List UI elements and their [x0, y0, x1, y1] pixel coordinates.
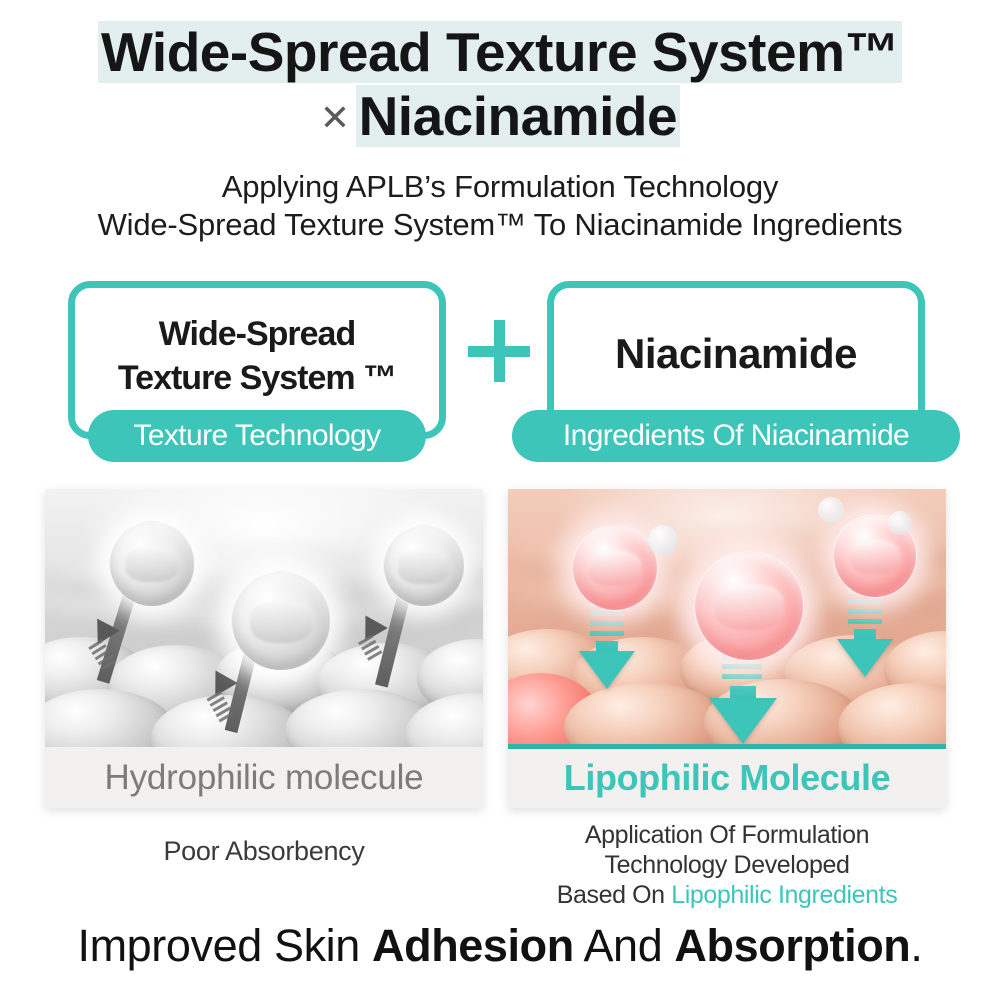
- cards-row: Wide-Spread Texture System ™ Niacinamide…: [0, 281, 1000, 471]
- molecule-sphere: [572, 525, 658, 611]
- note-line-3: Based On Lipophilic Ingredients: [508, 880, 946, 910]
- footer-part-5: .: [910, 920, 922, 971]
- caption-lipophilic: Lipophilic Molecule: [508, 744, 946, 808]
- card-texture-system-title: Wide-Spread Texture System ™: [75, 312, 439, 400]
- footer-part-1: Improved Skin: [77, 920, 372, 971]
- card-texture-system-title-line-2: Texture System ™: [75, 356, 439, 400]
- badge-ingredients-of-niacinamide: Ingredients Of Niacinamide: [512, 410, 960, 462]
- arrow-head-down: [709, 698, 777, 744]
- subtitle: Applying APLB’s Formulation Technology W…: [0, 168, 1000, 244]
- molecule-sphere: [231, 571, 331, 671]
- molecule-core: [714, 584, 783, 629]
- molecule-sphere: [383, 525, 465, 607]
- molecule-core: [849, 540, 901, 574]
- panel-lipophilic-image: [508, 489, 946, 744]
- footer-part-absorption: Absorption: [674, 920, 910, 971]
- molecule-sphere: [109, 521, 195, 607]
- footer-part-adhesion: Adhesion: [372, 920, 574, 971]
- panel-lipophilic: Lipophilic Molecule: [508, 489, 946, 808]
- page-title-line-1-text: Wide-Spread Texture System™: [98, 21, 902, 83]
- molecule-core: [588, 551, 642, 586]
- arrow-head-down: [837, 639, 893, 677]
- molecule-sphere: [694, 551, 804, 661]
- note-line-3-highlight: Lipophilic Ingredients: [671, 881, 897, 909]
- plus-icon: [468, 320, 530, 382]
- bubble-small: [818, 497, 844, 523]
- panel-hydrophilic-image: [45, 489, 483, 747]
- note-poor-absorbency: Poor Absorbency: [45, 836, 483, 867]
- arrow-head-down: [579, 651, 635, 689]
- molecule-core: [398, 550, 449, 584]
- note-formulation-technology: Application Of Formulation Technology De…: [508, 820, 946, 910]
- badge-texture-technology: Texture Technology: [88, 410, 426, 462]
- footer-tagline: Improved Skin Adhesion And Absorption.: [0, 918, 1000, 974]
- panel-hydrophilic: Hydrophilic molecule: [45, 489, 483, 808]
- molecule-core: [125, 547, 179, 582]
- note-line-2: Technology Developed: [508, 850, 946, 880]
- note-line-3-prefix: Based On: [557, 881, 672, 909]
- infographic-page: Wide-Spread Texture System™ ✕Niacinamide…: [0, 0, 1000, 1000]
- card-texture-system-title-line-1: Wide-Spread: [75, 312, 439, 356]
- subtitle-line-2: Wide-Spread Texture System™ To Niacinami…: [0, 206, 1000, 244]
- card-niacinamide-title: Niacinamide: [554, 330, 918, 378]
- bubble-small: [648, 525, 678, 555]
- subtitle-line-1: Applying APLB’s Formulation Technology: [0, 168, 1000, 206]
- page-title-line-1: Wide-Spread Texture System™: [0, 22, 1000, 82]
- molecule-core: [250, 601, 313, 642]
- header: Wide-Spread Texture System™ ✕Niacinamide: [0, 22, 1000, 148]
- caption-hydrophilic: Hydrophilic molecule: [45, 747, 483, 808]
- bubble-small: [888, 511, 912, 535]
- note-line-1: Application Of Formulation: [508, 820, 946, 850]
- plus-icon-vertical-bar: [494, 320, 505, 382]
- cross-icon: ✕: [320, 97, 356, 138]
- page-title-line-2-text: Niacinamide: [356, 85, 681, 147]
- page-title-line-2: ✕Niacinamide: [0, 86, 1000, 148]
- footer-part-3: And: [574, 920, 675, 971]
